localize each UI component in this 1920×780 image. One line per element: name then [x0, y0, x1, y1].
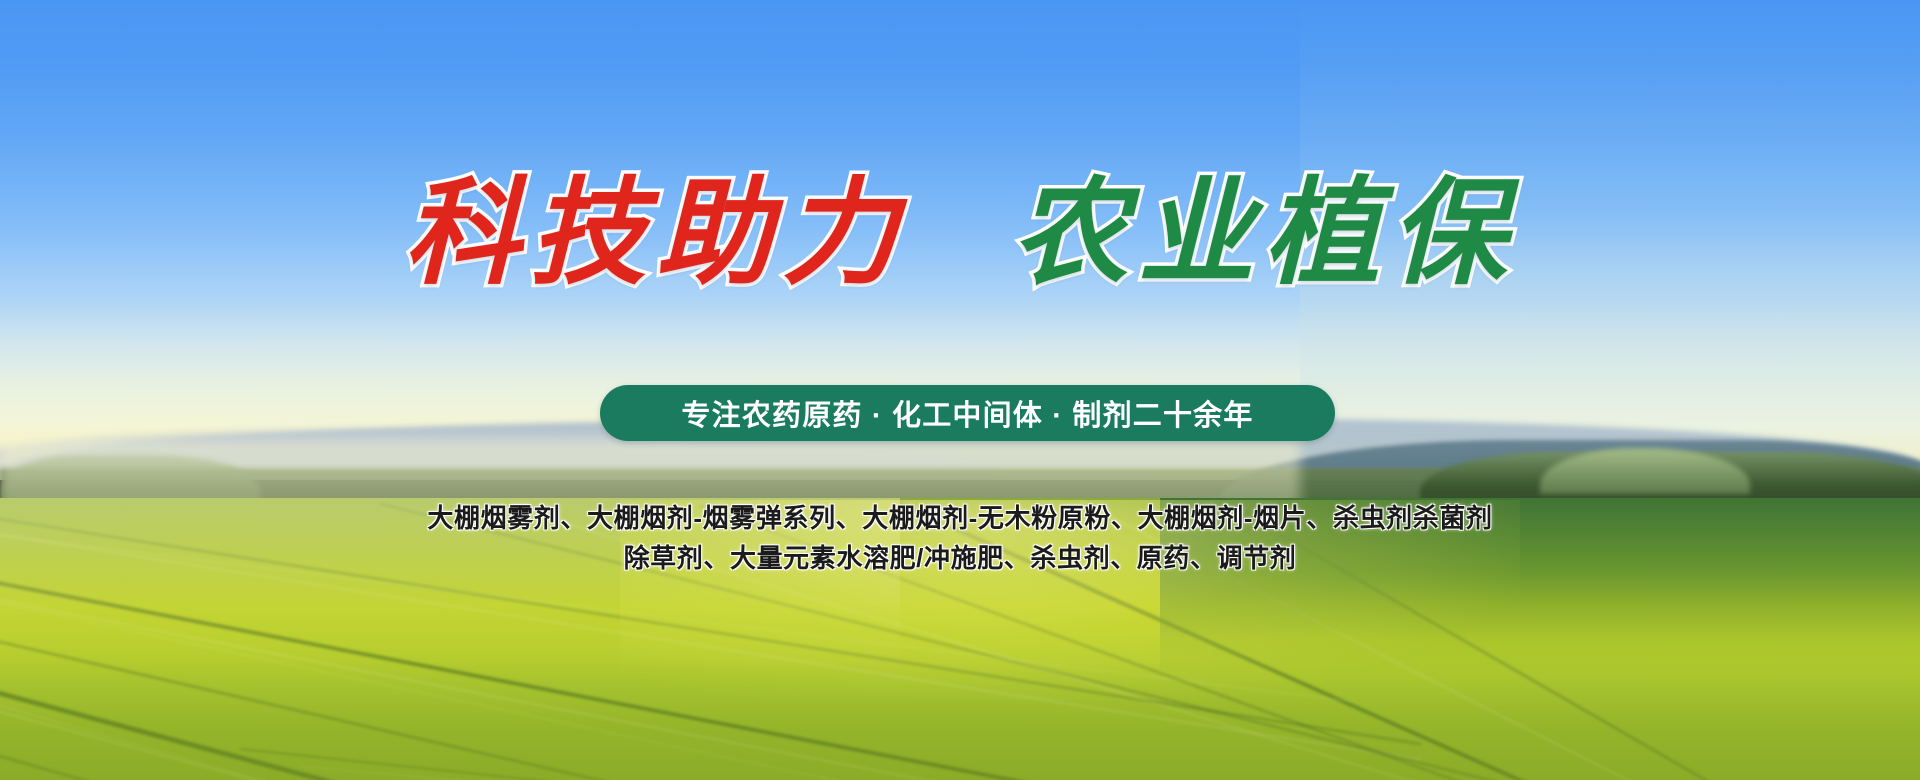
subtitle-pill: 专注农药原药 · 化工中间体 · 制剂二十余年	[600, 385, 1335, 441]
banner-headline: 科技助力 农业植保	[0, 176, 1920, 294]
headline-segment-green: 农业植保	[1012, 176, 1516, 294]
product-list: 大棚烟雾剂、大棚烟剂-烟雾弹系列、大棚烟剂-无木粉原粉、大棚烟剂-烟片、杀虫剂杀…	[0, 498, 1920, 578]
product-line-2: 除草剂、大量元素水溶肥/冲施肥、杀虫剂、原药、调节剂	[0, 538, 1920, 578]
headline-segment-red: 科技助力	[404, 176, 908, 294]
field-bottom-shading	[0, 660, 1920, 780]
subtitle-pill-text: 专注农药原药 · 化工中间体 · 制剂二十余年	[681, 392, 1253, 434]
hero-banner: 科技助力 农业植保 专注农药原药 · 化工中间体 · 制剂二十余年 大棚烟雾剂、…	[0, 0, 1920, 780]
product-line-1: 大棚烟雾剂、大棚烟剂-烟雾弹系列、大棚烟剂-无木粉原粉、大棚烟剂-烟片、杀虫剂杀…	[0, 498, 1920, 538]
